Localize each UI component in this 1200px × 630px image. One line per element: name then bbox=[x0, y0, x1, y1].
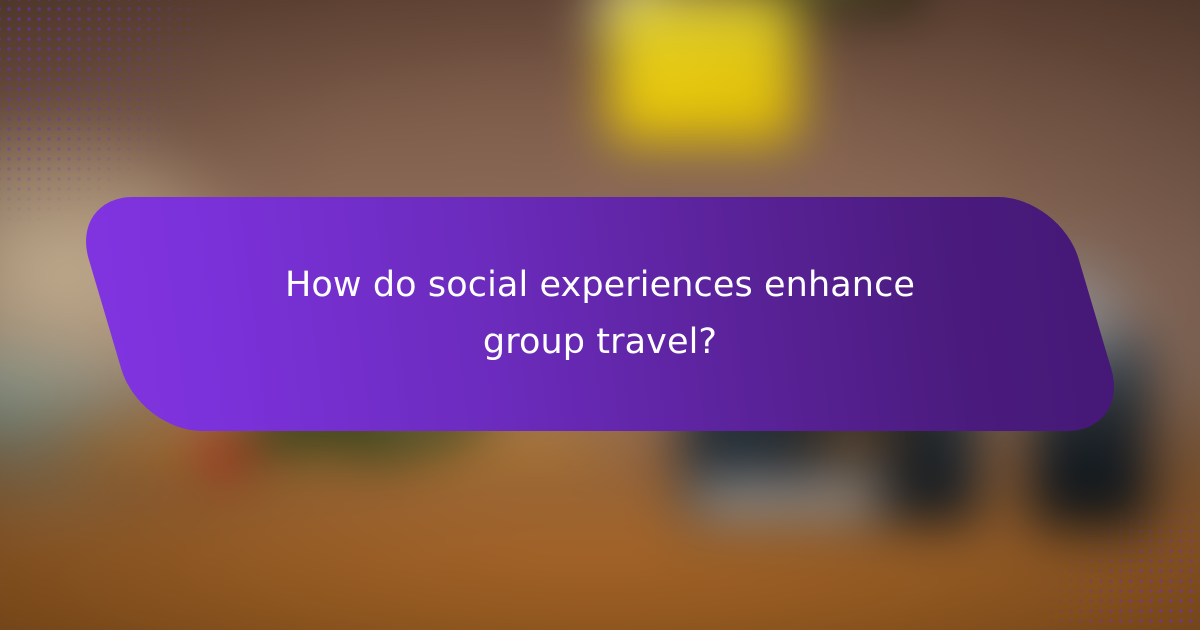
headline-card: How do social experiences enhance group … bbox=[105, 197, 1095, 431]
page-title: How do social experiences enhance group … bbox=[240, 257, 960, 370]
headline-card-content: How do social experiences enhance group … bbox=[105, 197, 1095, 431]
social-card-banner: How do social experiences enhance group … bbox=[0, 0, 1200, 630]
